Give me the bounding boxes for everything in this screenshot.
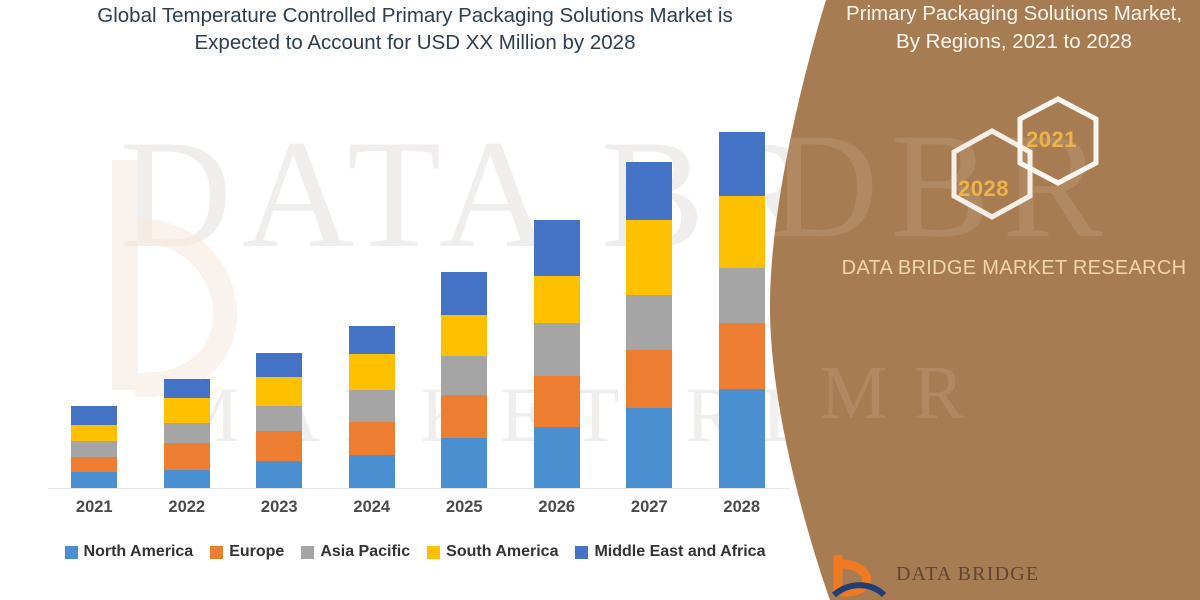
bar-segment-2026-middle-east-and-africa[interactable] (534, 220, 580, 276)
bar-segment-2022-asia-pacific[interactable] (164, 423, 210, 443)
bar-segment-2024-asia-pacific[interactable] (349, 390, 395, 421)
legend-item-europe[interactable]: Europe (210, 543, 284, 561)
bar-segment-2021-middle-east-and-africa[interactable] (71, 406, 117, 425)
bar-segment-2026-europe[interactable] (534, 376, 580, 427)
legend-swatch-icon (65, 546, 78, 559)
bar-segment-2024-middle-east-and-africa[interactable] (349, 326, 395, 354)
axis-baseline (48, 488, 790, 489)
brand-logo: DATA BRIDGE (832, 548, 1132, 600)
legend-item-north-america[interactable]: North America (65, 543, 194, 561)
bar-segment-2028-north-america[interactable] (719, 389, 765, 489)
bar-segment-2027-middle-east-and-africa[interactable] (626, 162, 672, 220)
bar-segment-2025-asia-pacific[interactable] (441, 356, 487, 395)
bar-segment-2026-south-america[interactable] (534, 276, 580, 323)
legend-swatch-icon (575, 546, 588, 559)
bar-segment-2024-north-america[interactable] (349, 455, 395, 489)
hexagon-label-front: 2021 (1026, 127, 1077, 153)
bar-segment-2022-europe[interactable] (164, 443, 210, 470)
bar-segment-2028-south-america[interactable] (719, 196, 765, 269)
bar-2022[interactable] (164, 379, 210, 489)
x-tick-2027: 2027 (604, 498, 694, 517)
bar-2028[interactable] (719, 132, 765, 489)
legend-swatch-icon (210, 546, 223, 559)
bar-chart-plot (48, 110, 788, 489)
legend-item-asia-pacific[interactable]: Asia Pacific (301, 543, 410, 561)
bar-2027[interactable] (626, 162, 672, 489)
bar-segment-2028-europe[interactable] (719, 323, 765, 389)
bar-segment-2021-north-america[interactable] (71, 472, 117, 489)
bar-segment-2027-asia-pacific[interactable] (626, 295, 672, 351)
legend-label: North America (84, 543, 194, 561)
bar-segment-2025-europe[interactable] (441, 395, 487, 438)
bar-segment-2024-south-america[interactable] (349, 354, 395, 390)
legend-label: Asia Pacific (320, 543, 410, 561)
bar-segment-2021-south-america[interactable] (71, 425, 117, 441)
legend-label: South America (446, 543, 558, 561)
hexagon-label-back: 2028 (958, 176, 1009, 202)
brand-panel: DBR MR Global Temperature Controlled Pri… (760, 0, 1200, 600)
x-tick-2026: 2026 (512, 498, 602, 517)
bar-segment-2021-europe[interactable] (71, 457, 117, 472)
bar-segment-2023-europe[interactable] (256, 431, 302, 461)
bar-segment-2023-north-america[interactable] (256, 461, 302, 489)
page-title: Global Temperature Controlled Primary Pa… (0, 0, 830, 56)
legend-label: Middle East and Africa (594, 543, 765, 561)
bar-segment-2028-middle-east-and-africa[interactable] (719, 132, 765, 196)
bar-segment-2025-south-america[interactable] (441, 315, 487, 356)
bar-segment-2027-north-america[interactable] (626, 408, 672, 489)
bar-segment-2025-north-america[interactable] (441, 438, 487, 489)
bar-2023[interactable] (256, 353, 302, 489)
bar-2024[interactable] (349, 326, 395, 489)
chart-legend: North AmericaEuropeAsia PacificSouth Ame… (0, 538, 830, 566)
legend-swatch-icon (427, 546, 440, 559)
bar-segment-2027-south-america[interactable] (626, 220, 672, 295)
x-tick-2022: 2022 (142, 498, 232, 517)
bar-2026[interactable] (534, 220, 580, 489)
bar-segment-2023-middle-east-and-africa[interactable] (256, 353, 302, 376)
x-tick-2023: 2023 (234, 498, 324, 517)
bar-segment-2025-middle-east-and-africa[interactable] (441, 272, 487, 315)
hexagon-outlines-icon (920, 95, 1140, 230)
x-tick-2021: 2021 (49, 498, 139, 517)
bar-segment-2021-asia-pacific[interactable] (71, 441, 117, 457)
bar-segment-2028-asia-pacific[interactable] (719, 268, 765, 323)
bar-segment-2026-north-america[interactable] (534, 427, 580, 489)
brand-logo-text: DATA BRIDGE (896, 563, 1039, 586)
x-tick-2024: 2024 (327, 498, 417, 517)
brand-panel-title: Global Temperature Controlled Primary Pa… (838, 0, 1190, 56)
bar-segment-2023-asia-pacific[interactable] (256, 406, 302, 432)
bar-2021[interactable] (71, 406, 117, 489)
bar-segment-2027-europe[interactable] (626, 350, 672, 408)
legend-item-south-america[interactable]: South America (427, 543, 558, 561)
bar-2025[interactable] (441, 272, 487, 489)
bar-segment-2022-middle-east-and-africa[interactable] (164, 379, 210, 398)
x-tick-2025: 2025 (419, 498, 509, 517)
company-name: DATA BRIDGE MARKET RESEARCH (830, 253, 1198, 283)
bar-segment-2022-south-america[interactable] (164, 398, 210, 423)
bar-segment-2024-europe[interactable] (349, 422, 395, 455)
bar-segment-2023-south-america[interactable] (256, 377, 302, 406)
bar-segment-2026-asia-pacific[interactable] (534, 323, 580, 376)
legend-item-middle-east-and-africa[interactable]: Middle East and Africa (575, 543, 765, 561)
legend-swatch-icon (301, 546, 314, 559)
bridge-logo-icon (832, 551, 886, 597)
chart-region: DATA BRIDGE MARKET RESEARCH Global Tempe… (0, 0, 830, 600)
x-axis-tick-labels: 20212022202320242025202620272028 (48, 498, 788, 526)
bar-segment-2022-north-america[interactable] (164, 470, 210, 489)
hexagon-pair: 2021 2028 (920, 95, 1140, 230)
legend-label: Europe (229, 543, 284, 561)
